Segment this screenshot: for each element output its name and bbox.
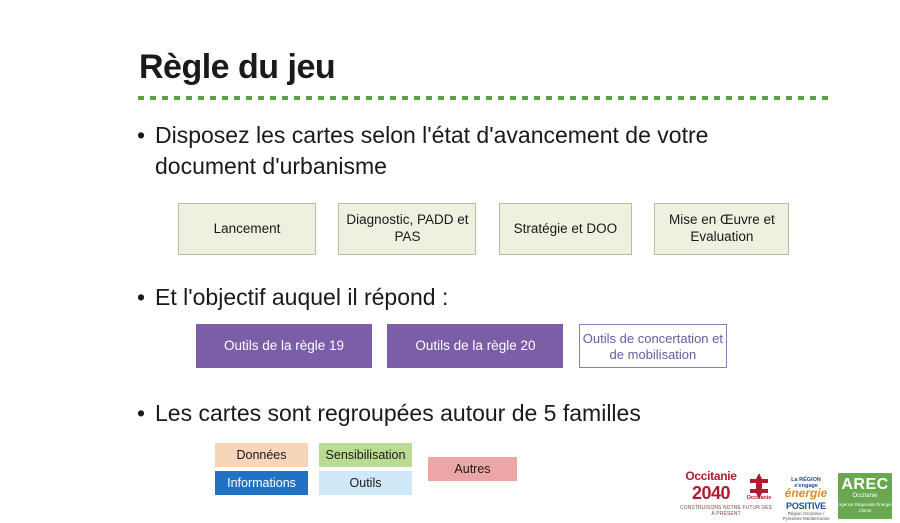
logo-energie-line2: énergie [780,486,832,500]
logo-occitanie-subtitle: CONSTRUISONS NOTRE FUTUR DÈS À PRÉSENT [678,505,774,517]
logo-occitanie-word: Occitanie [678,469,744,483]
bullet-item-1: • Disposez les cartes selon l'état d'ava… [155,120,795,182]
objective-card-regle-19[interactable]: Outils de la règle 19 [196,324,372,368]
family-chip-donnees[interactable]: Données [215,443,308,467]
page-title: Règle du jeu [139,48,335,87]
bullet-text-1: Disposez les cartes selon l'état d'avanc… [155,122,708,179]
phase-card-diagnostic[interactable]: Diagnostic, PADD et PAS [338,203,476,255]
logo-arec-region: Occitanie [838,493,892,499]
bullet-marker: • [137,282,145,313]
phase-card-lancement[interactable]: Lancement [178,203,316,255]
logo-arec-name: AREC [838,476,892,494]
logo-occitanie-2040: Occitanie 2040 CONSTRUISONS NOTRE FUTUR … [678,467,774,519]
phase-card-strategie[interactable]: Stratégie et DOO [499,203,632,255]
logo-energie-line3: POSITIVE [780,501,832,511]
bullet-marker: • [137,398,145,429]
family-chip-autres[interactable]: Autres [428,457,517,481]
family-chip-sensibilisation[interactable]: Sensibilisation [319,443,412,467]
bullet-item-3: • Les cartes sont regroupées autour de 5… [155,398,775,429]
objective-card-regle-20[interactable]: Outils de la règle 20 [387,324,563,368]
logo-energie-line4: Région Occitanie / Pyrénées-Méditerranée [780,511,832,521]
bullet-marker: • [137,120,145,151]
title-divider [138,96,828,100]
family-chip-outils[interactable]: Outils [319,471,412,495]
phase-card-mise-en-oeuvre[interactable]: Mise en Œuvre et Evaluation [654,203,789,255]
objective-card-concertation[interactable]: Outils de concertation et de mobilisatio… [579,324,727,368]
objective-card-row: Outils de la règle 19 Outils de la règle… [196,324,727,368]
logo-occitanie-number: 2040 [678,483,744,504]
family-chip-informations[interactable]: Informations [215,471,308,495]
bullet-text-2: Et l'objectif auquel il répond : [155,284,448,310]
phase-card-row: Lancement Diagnostic, PADD et PAS Straté… [178,203,789,255]
logo-occitanie-mark-label: Occitanie [744,495,774,501]
logo-energie-positive: La RÉGION s'engage énergie POSITIVE Régi… [780,475,832,519]
logo-bar: Occitanie 2040 CONSTRUISONS NOTRE FUTUR … [678,467,892,519]
logo-arec-occitanie: AREC Occitanie Agence Régionale Énergie … [838,473,892,519]
logo-arec-tagline: Agence Régionale Énergie Climat [838,502,892,513]
bullet-text-3: Les cartes sont regroupées autour de 5 f… [155,400,641,426]
slide: Règle du jeu • Disposez les cartes selon… [0,0,900,523]
bullet-item-2: • Et l'objectif auquel il répond : [155,282,775,313]
